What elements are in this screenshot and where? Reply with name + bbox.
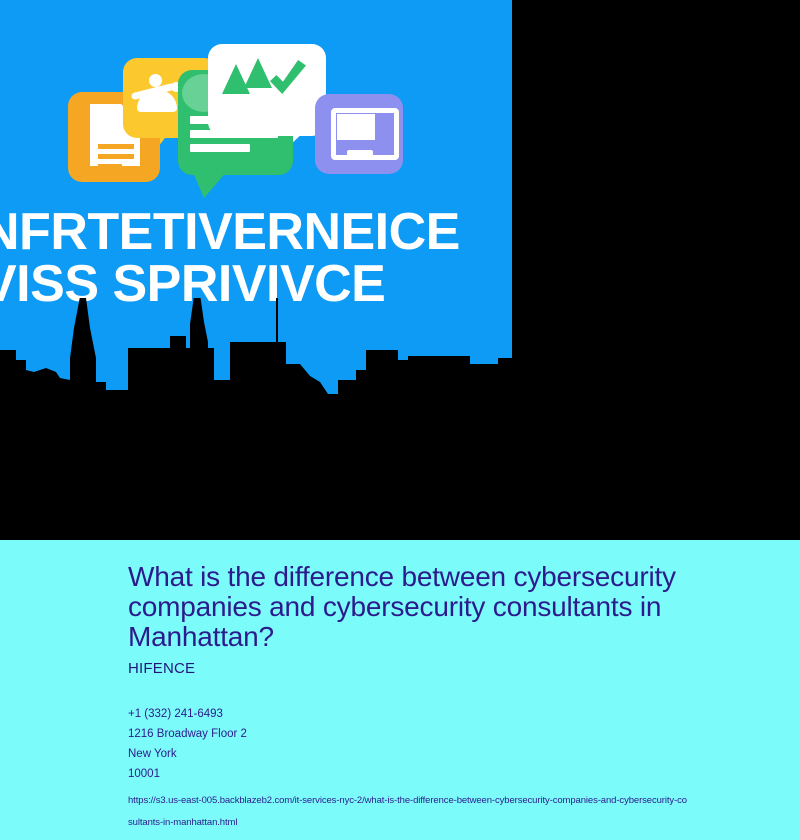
document-line (98, 144, 134, 149)
monitor-screen (337, 114, 375, 140)
checkmark-icon (270, 60, 306, 94)
hero-media-panel: NFRTETIVERNEICE VISS SPRIVIVCE (0, 0, 800, 540)
document-line (98, 164, 122, 169)
contact-address-line1: 1216 Broadway Floor 2 (128, 724, 800, 744)
document-line (98, 154, 134, 159)
content-panel: What is the difference between cybersecu… (0, 540, 800, 840)
artwork-headline: NFRTETIVERNEICE VISS SPRIVIVCE (0, 206, 512, 310)
page-title: What is the difference between cybersecu… (128, 562, 728, 652)
brand-name: HIFENCE (128, 660, 800, 678)
monitor-stand (347, 150, 373, 156)
monitor-bubble (315, 94, 403, 174)
source-url-line2[interactable]: sultants-in-manhattan.html (128, 812, 800, 834)
hero-artwork: NFRTETIVERNEICE VISS SPRIVIVCE (0, 0, 512, 518)
source-url-line1[interactable]: https://s3.us-east-005.backblazeb2.com/i… (128, 790, 800, 812)
list-icon (190, 144, 250, 152)
icon-cluster (60, 42, 410, 187)
contact-block: +1 (332) 241-6493 1216 Broadway Floor 2 … (128, 704, 800, 784)
source-url[interactable]: https://s3.us-east-005.backblazeb2.com/i… (128, 790, 800, 834)
artwork-headline-line1: NFRTETIVERNEICE (0, 203, 460, 261)
city-skyline-silhouette (0, 298, 512, 518)
chart-peak (244, 58, 272, 88)
contact-phone[interactable]: +1 (332) 241-6493 (128, 704, 800, 724)
letterbox-band (0, 518, 800, 540)
contact-city: New York (128, 744, 800, 764)
chart-bubble (208, 44, 326, 136)
chart-checkmark-icon (222, 58, 306, 102)
contact-zip: 10001 (128, 764, 800, 784)
